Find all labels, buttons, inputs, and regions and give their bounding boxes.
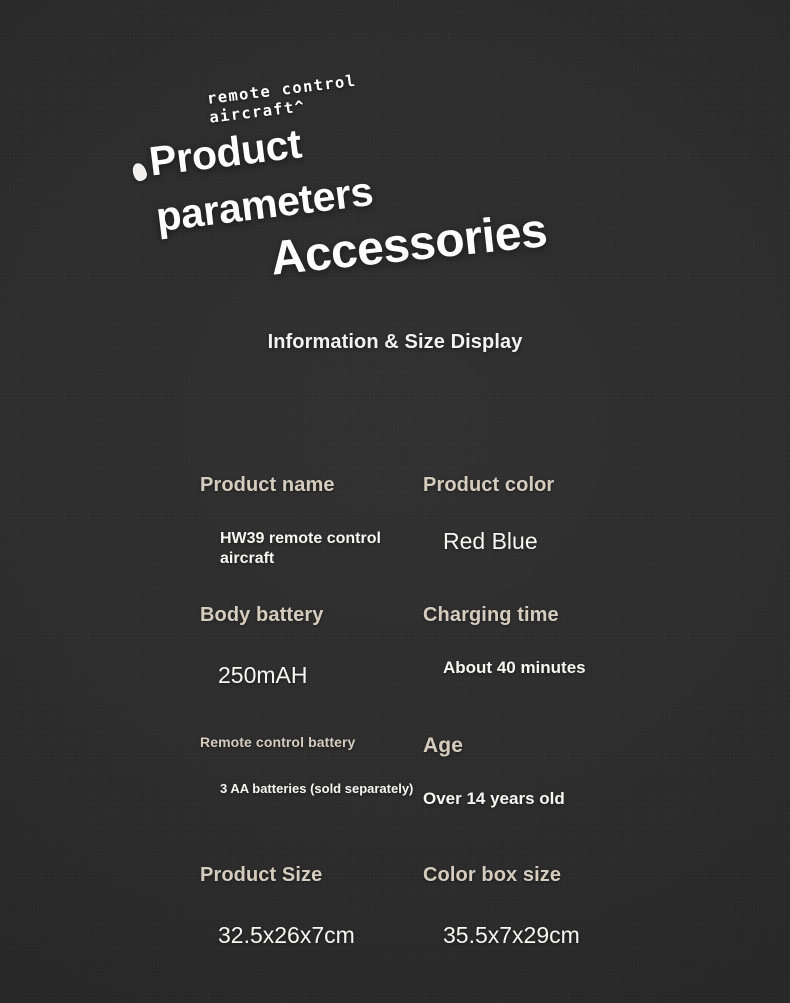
spec-cell-product-size: Product Size 32.5x26x7cm bbox=[200, 864, 415, 949]
spec-label: Product Size bbox=[200, 864, 415, 887]
spec-label: Remote control battery bbox=[200, 734, 415, 750]
spec-row: Product name HW39 remote control aircraf… bbox=[0, 474, 790, 604]
title-dot-marker-icon bbox=[130, 161, 149, 183]
spec-row: Body battery 250mAH Charging time About … bbox=[0, 604, 790, 734]
page-subtitle: Information & Size Display bbox=[0, 331, 790, 354]
spec-label: Color box size bbox=[423, 864, 673, 887]
spec-value: 250mAH bbox=[200, 627, 415, 689]
spec-cell-product-color: Product color Red Blue bbox=[423, 474, 673, 555]
spec-cell-age: Age Over 14 years old bbox=[423, 734, 673, 810]
spec-value: 35.5x7x29cm bbox=[423, 887, 673, 949]
spec-row: Remote control battery 3 AA batteries (s… bbox=[0, 734, 790, 864]
spec-label: Product color bbox=[423, 474, 673, 497]
spec-label: Body battery bbox=[200, 604, 415, 627]
spec-value: Red Blue bbox=[423, 497, 673, 555]
spec-label: Charging time bbox=[423, 604, 673, 627]
spec-cell-body-battery: Body battery 250mAH bbox=[200, 604, 415, 689]
spec-value: 3 AA batteries (sold separately) bbox=[200, 750, 415, 798]
spec-cell-remote-control-battery: Remote control battery 3 AA batteries (s… bbox=[200, 734, 415, 798]
spec-label: Age bbox=[423, 734, 673, 758]
spec-cell-charging-time: Charging time About 40 minutes bbox=[423, 604, 673, 679]
spec-cell-product-name: Product name HW39 remote control aircraf… bbox=[200, 474, 415, 569]
spec-value: 32.5x26x7cm bbox=[200, 887, 415, 949]
spec-row: Product Size 32.5x26x7cm Color box size … bbox=[0, 864, 790, 994]
spec-value: HW39 remote control aircraft bbox=[200, 497, 415, 569]
product-parameters-page: remote control aircraft^ Product paramet… bbox=[0, 0, 790, 1003]
spec-table: Product name HW39 remote control aircraf… bbox=[0, 474, 790, 994]
spec-cell-color-box-size: Color box size 35.5x7x29cm bbox=[423, 864, 673, 949]
spec-value: About 40 minutes bbox=[423, 627, 673, 679]
spec-value: Over 14 years old bbox=[423, 758, 673, 810]
spec-label: Product name bbox=[200, 474, 415, 497]
